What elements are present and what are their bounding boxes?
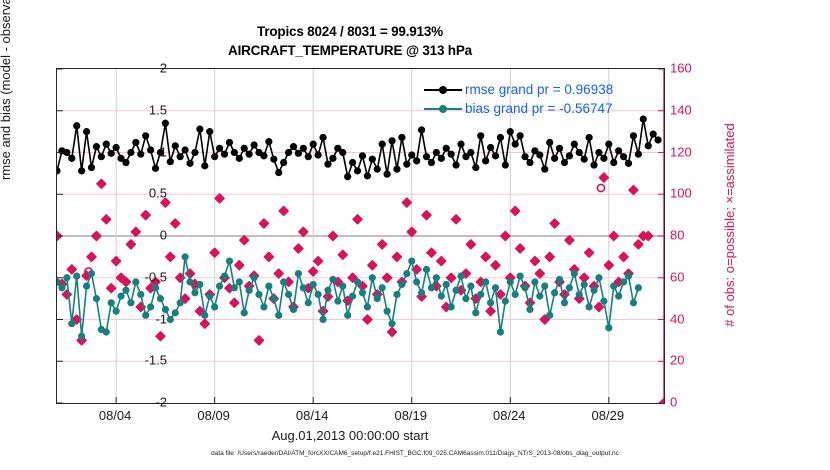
- y-tick-right: 160: [670, 61, 692, 76]
- y-tick-left: -1: [155, 311, 167, 326]
- x-tick: 08/14: [296, 408, 329, 423]
- x-tick: 08/19: [394, 408, 427, 423]
- y-tick-right: 40: [670, 311, 684, 326]
- y-tick-right: 120: [670, 144, 692, 159]
- title-line-2: AIRCRAFT_TEMPERATURE @ 313 hPa: [0, 41, 700, 60]
- title-line-1: Tropics 8024 / 8031 = 99.913%: [0, 22, 700, 41]
- chart-root: Tropics 8024 / 8031 = 99.913% AIRCRAFT_T…: [0, 0, 830, 470]
- x-tick: 08/24: [493, 408, 526, 423]
- legend-label-rmse: rmse grand pr = 0.96938: [465, 82, 613, 97]
- y-tick-right: 20: [670, 353, 684, 368]
- y-tick-right: 140: [670, 102, 692, 117]
- chart-title: Tropics 8024 / 8031 = 99.913% AIRCRAFT_T…: [0, 22, 700, 60]
- y-tick-left: -1.5: [145, 353, 167, 368]
- x-tick: 08/29: [592, 408, 625, 423]
- x-axis-label: Aug.01,2013 00:00:00 start: [0, 428, 700, 443]
- x-tick: 08/09: [197, 408, 230, 423]
- legend-swatch-rmse: [424, 83, 462, 97]
- legend-item-bias: bias grand pr = -0.56747: [424, 99, 613, 118]
- data-file-footer: data file: /Users/raeder/DAI/ATM_forcXX/…: [0, 450, 830, 457]
- y-tick-right: 0: [670, 395, 677, 410]
- y-tick-left: 1.5: [149, 102, 167, 117]
- y-tick-left: 1: [160, 144, 167, 159]
- y-tick-right: 60: [670, 269, 684, 284]
- y-axis-right-label: # of obs: o=possible; ×=assimilated: [722, 60, 737, 390]
- legend-item-rmse: rmse grand pr = 0.96938: [424, 80, 613, 99]
- chart-legend: rmse grand pr = 0.96938 bias grand pr = …: [424, 80, 613, 118]
- legend-swatch-bias: [424, 102, 462, 116]
- legend-label-bias: bias grand pr = -0.56747: [465, 101, 612, 116]
- y-tick-left: 2: [160, 61, 167, 76]
- y-tick-left: -2: [155, 395, 167, 410]
- y-axis-left-label: rmse and bias (model - observation): [0, 0, 13, 236]
- x-tick: 08/04: [99, 408, 132, 423]
- y-tick-left: 0: [160, 228, 167, 243]
- y-tick-left: 0.5: [149, 186, 167, 201]
- y-tick-right: 100: [670, 186, 692, 201]
- y-tick-left: -0.5: [145, 269, 167, 284]
- y-tick-right: 80: [670, 228, 684, 243]
